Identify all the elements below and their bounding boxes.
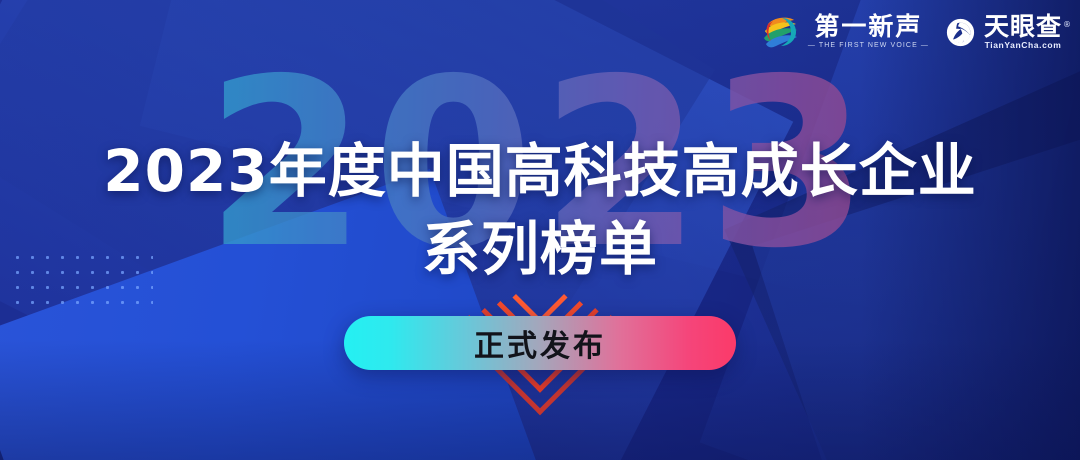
tianyancha-name-text: 天眼查 — [984, 12, 1062, 41]
swirl-logo-icon — [762, 15, 800, 49]
tianyancha-wordmark: 天眼查 ® TianYanCha.com — [984, 14, 1062, 50]
first-new-voice-tagline: — THE FIRST NEW VOICE — — [808, 41, 929, 50]
release-badge-label: 正式发布 — [474, 321, 606, 365]
trademark-mark: ® — [1063, 12, 1071, 38]
tianyancha-name: 天眼查 ® — [984, 14, 1062, 40]
first-new-voice-name: 第一新声 — [814, 14, 922, 40]
first-new-voice-wordmark: 第一新声 — THE FIRST NEW VOICE — — [808, 14, 929, 50]
aperture-eye-icon — [945, 17, 976, 48]
tianyancha-logo[interactable]: 天眼查 ® TianYanCha.com — [945, 14, 1062, 50]
title-line-1: 2023年度中国高科技高成长企业 — [0, 132, 1080, 210]
title-line-2: 系列榜单 — [0, 210, 1080, 288]
page-title: 2023年度中国高科技高成长企业 系列榜单 — [0, 132, 1080, 288]
promo-banner: 2023 2023年度中国高科技高成长企业 系列榜单 正式发布 — [0, 0, 1080, 460]
release-badge[interactable]: 正式发布 — [344, 316, 736, 370]
first-new-voice-logo[interactable]: 第一新声 — THE FIRST NEW VOICE — — [762, 14, 929, 50]
tianyancha-domain: TianYanCha.com — [985, 40, 1062, 50]
logo-group: 第一新声 — THE FIRST NEW VOICE — 天眼查 — [762, 14, 1062, 50]
